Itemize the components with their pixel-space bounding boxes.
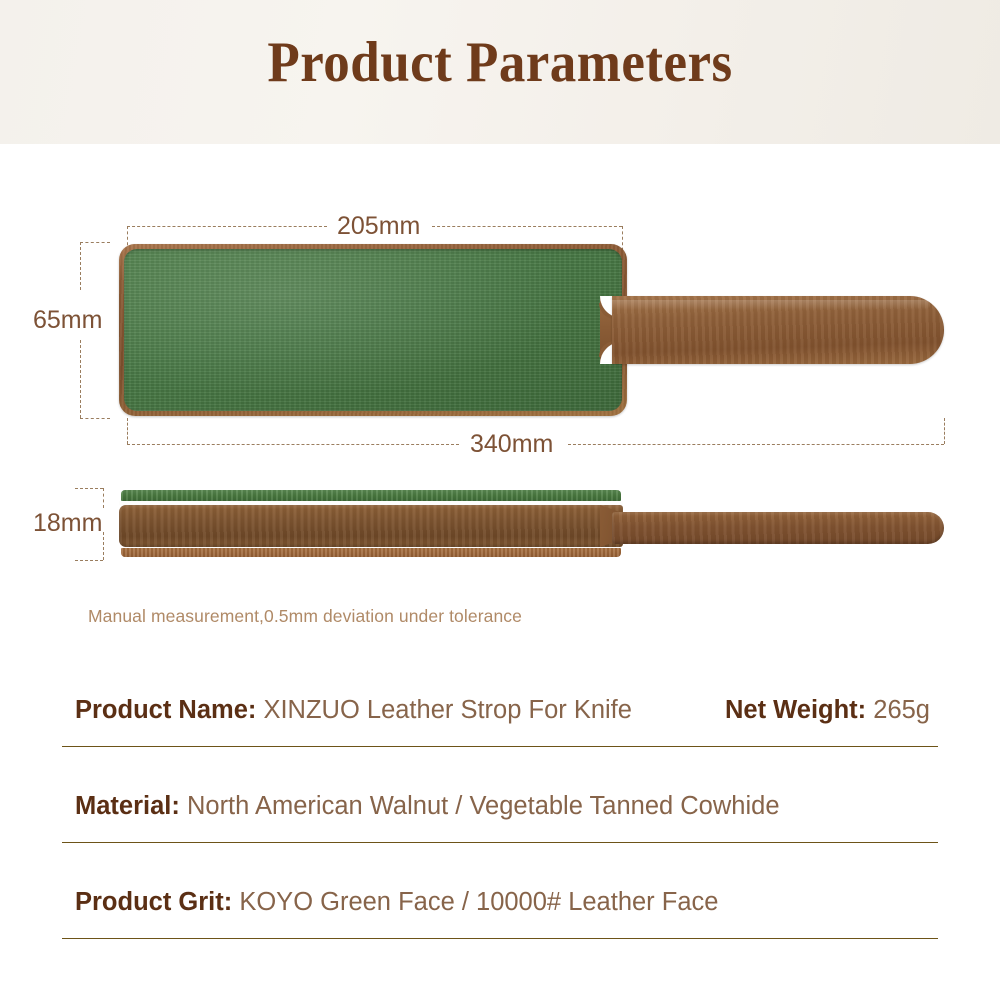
green-leather-surface <box>124 249 622 411</box>
dim-340-tick-left <box>127 418 128 444</box>
dim-65-tick-bottom <box>80 418 110 419</box>
spec-net-weight: Net Weight: 265g <box>725 696 930 725</box>
product-diagram: 205mm 65mm 340mm 18mm <box>0 144 1000 664</box>
dim-340-line-right <box>568 444 944 445</box>
spec-product-grit: Product Grit: KOYO Green Face / 10000# L… <box>75 888 718 917</box>
dim-label-65mm: 65mm <box>33 306 102 335</box>
side-walnut-body <box>119 505 623 547</box>
row-divider <box>62 746 938 747</box>
header-band: Product Parameters <box>0 0 1000 144</box>
dim-65-tick-top <box>80 242 110 243</box>
dim-65-line-lower <box>80 340 81 418</box>
table-row: Product Grit: KOYO Green Face / 10000# L… <box>0 868 1000 964</box>
dim-18-tick-bottom <box>75 560 103 561</box>
dim-18-tick-top <box>75 488 103 489</box>
paddle-top-view: 205mm 65mm 340mm <box>0 144 1000 444</box>
row-divider <box>62 842 938 843</box>
spec-value: KOYO Green Face / 10000# Leather Face <box>239 888 718 916</box>
specification-table: Product Name: XINZUO Leather Strop For K… <box>0 676 1000 964</box>
dim-label-18mm: 18mm <box>33 509 102 538</box>
dim-label-340mm: 340mm <box>470 430 553 459</box>
spec-value: XINZUO Leather Strop For Knife <box>263 696 631 724</box>
dim-340-line-left <box>127 444 459 445</box>
spec-value: 265g <box>873 696 930 724</box>
spec-label: Product Grit: <box>75 888 232 916</box>
side-green-leather-layer <box>121 490 621 501</box>
dim-65-line-upper <box>80 242 81 290</box>
dim-205-line-right <box>432 226 622 227</box>
spec-label: Material: <box>75 792 180 820</box>
dim-205-line-left <box>127 226 327 227</box>
paddle-head-wood-frame <box>119 244 627 416</box>
handle-bar-wood <box>612 296 944 364</box>
spec-value: North American Walnut / Vegetable Tanned… <box>187 792 780 820</box>
measurement-note: Manual measurement,0.5mm deviation under… <box>88 606 522 627</box>
row-divider <box>62 938 938 939</box>
table-row: Product Name: XINZUO Leather Strop For K… <box>0 676 1000 772</box>
spec-label: Product Name: <box>75 696 256 724</box>
dim-18-line-lower <box>103 532 104 560</box>
dim-340-tick-right <box>944 418 945 444</box>
paddle-side-view: 18mm <box>0 474 1000 604</box>
dim-label-205mm: 205mm <box>337 212 420 241</box>
dim-18-line-upper <box>103 488 104 508</box>
side-handle-bar <box>612 512 944 544</box>
spec-material: Material: North American Walnut / Vegeta… <box>75 792 780 821</box>
table-row: Material: North American Walnut / Vegeta… <box>0 772 1000 868</box>
side-cork-leather-layer <box>121 548 621 557</box>
page-title: Product Parameters <box>35 30 965 95</box>
spec-label: Net Weight: <box>725 696 866 724</box>
spec-product-name: Product Name: XINZUO Leather Strop For K… <box>75 696 632 725</box>
